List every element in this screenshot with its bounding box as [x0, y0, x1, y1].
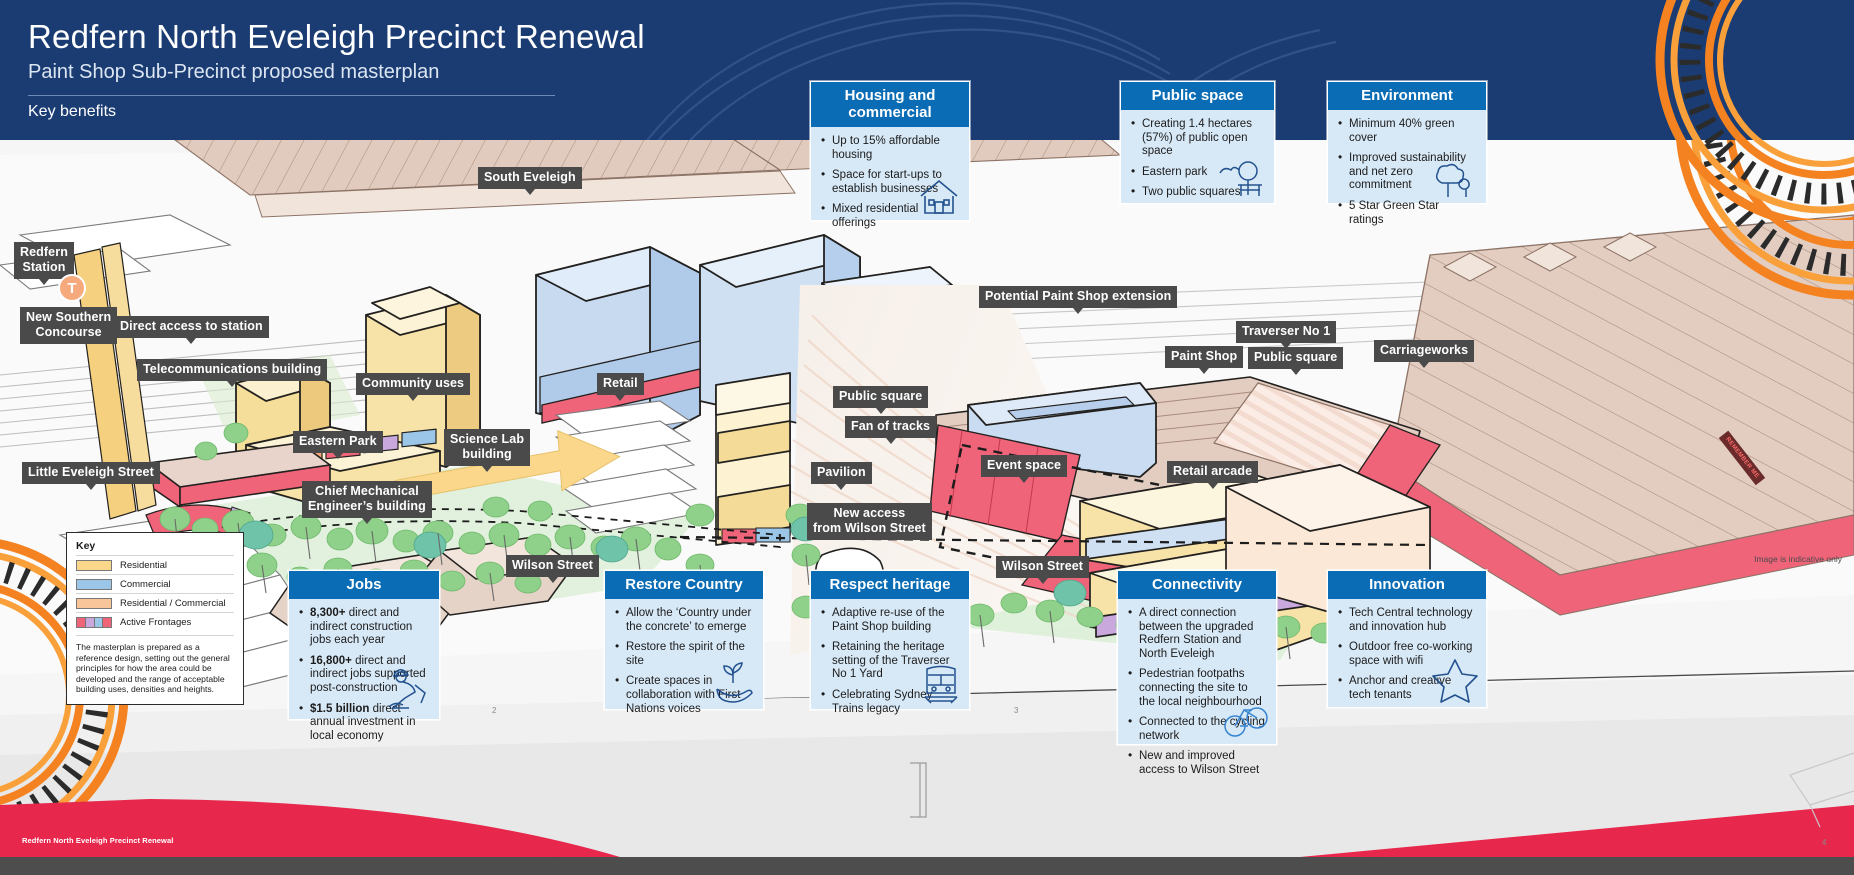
- map-label-public-square-east: Public square: [1248, 347, 1343, 369]
- map-label-public-square-centre: Public square: [833, 386, 928, 408]
- key-note: The masterplan is prepared as a referenc…: [76, 635, 234, 695]
- card-innovation: Innovation Tech Central technology and i…: [1327, 570, 1487, 708]
- map-label-retail: Retail: [597, 373, 644, 395]
- card-title: Restore Country: [605, 571, 763, 599]
- house-icon: [915, 176, 963, 216]
- map-label-telecommunications-building: Telecommunications building: [137, 359, 327, 381]
- card-environment: Environment Minimum 40% green cover Impr…: [1327, 81, 1487, 204]
- bullet: A direct connection between the upgraded…: [1128, 607, 1266, 661]
- bullet: 8,300+ direct and indirect construction …: [299, 607, 429, 648]
- bullet-emphasis: 8,300+: [310, 607, 346, 619]
- card-title: Environment: [1328, 82, 1486, 110]
- map-label-carriageworks: Carriageworks: [1374, 340, 1474, 362]
- map-label-chief-mechanical-engineers-building: Chief MechanicalEngineer’s building: [302, 481, 432, 518]
- card-body: Tech Central technology and innovation h…: [1328, 599, 1486, 707]
- map-label-redfern-station: RedfernStation: [14, 242, 74, 279]
- card-body: Allow the ‘Country under the concrete’ t…: [605, 599, 763, 709]
- card-title: Connectivity: [1118, 571, 1276, 599]
- key-row-commercial: Commercial: [76, 574, 234, 593]
- key-title: Key: [76, 540, 234, 552]
- card-body: 8,300+ direct and indirect construction …: [289, 599, 439, 719]
- bullet: Minimum 40% green cover: [1338, 118, 1476, 145]
- bullet-emphasis: 16,800+: [310, 655, 352, 667]
- train-icon: [919, 659, 963, 705]
- header-divider: [28, 95, 555, 96]
- map-label-new-access-from-wilson-street: New accessfrom Wilson Street: [807, 503, 932, 540]
- map-label-wilson-street-left: Wilson Street: [506, 555, 599, 577]
- map-label-eastern-park: Eastern Park: [293, 431, 383, 453]
- infographic-page: Redfern North Eveleigh Precinct Renewal …: [0, 0, 1854, 875]
- bullet-emphasis: $1.5 billion: [310, 703, 369, 715]
- card-body: Creating 1.4 hectares (57%) of public op…: [1121, 110, 1274, 203]
- map-label-science-lab-building: Science Labbuilding: [444, 429, 530, 466]
- card-respect-heritage: Respect heritage Adaptive re-use of the …: [810, 570, 970, 710]
- card-body: A direct connection between the upgraded…: [1118, 599, 1276, 744]
- map-label-event-space: Event space: [981, 455, 1067, 477]
- page-number-4: 4: [1822, 838, 1826, 847]
- station-roundel-icon: T: [58, 274, 86, 302]
- card-body: Up to 15% affordable housing Space for s…: [811, 127, 969, 220]
- bullet: Creating 1.4 hectares (57%) of public op…: [1131, 118, 1264, 159]
- bullet: Allow the ‘Country under the concrete’ t…: [615, 607, 753, 634]
- card-public-space: Public space Creating 1.4 hectares (57%)…: [1120, 81, 1275, 204]
- page-title: Redfern North Eveleigh Precinct Renewal: [28, 18, 1854, 56]
- page-number-2: 2: [492, 706, 496, 715]
- map-label-community-uses: Community uses: [356, 373, 470, 395]
- key-row-residential-commercial: Residential / Commercial: [76, 593, 234, 612]
- bullet: Tech Central technology and innovation h…: [1338, 607, 1476, 634]
- map-label-fan-of-tracks: Fan of tracks: [845, 416, 936, 438]
- card-jobs: Jobs 8,300+ direct and indirect construc…: [288, 570, 440, 720]
- bullet: New and improved access to Wilson Street: [1128, 750, 1266, 777]
- card-body: Minimum 40% green cover Improved sustain…: [1328, 110, 1486, 203]
- card-title: Respect heritage: [811, 571, 969, 599]
- bicycle-icon: [1222, 696, 1270, 740]
- card-title: Jobs: [289, 571, 439, 599]
- key-swatch-active-frontages: [76, 617, 112, 628]
- key-label: Active Frontages: [120, 617, 191, 628]
- map-label-traverser-no-1: Traverser No 1: [1236, 321, 1336, 343]
- page-number-3: 3: [1014, 706, 1018, 715]
- star-icon: [1430, 655, 1480, 703]
- bullet: Up to 15% affordable housing: [821, 135, 959, 162]
- key-label: Commercial: [120, 579, 171, 590]
- key-swatch-residential: [76, 560, 112, 571]
- construction-worker-icon: [381, 663, 433, 715]
- map-label-retail-arcade: Retail arcade: [1167, 461, 1258, 483]
- map-label-south-eveleigh: South Eveleigh: [478, 167, 582, 189]
- seedling-in-hand-icon: [709, 657, 757, 705]
- bullet: 5 Star Green Star ratings: [1338, 200, 1476, 227]
- map-label-pavilion: Pavilion: [811, 462, 872, 484]
- card-restore-country: Restore Country Allow the ‘Country under…: [604, 570, 764, 710]
- card-housing-and-commercial: Housing and commercial Up to 15% afforda…: [810, 81, 970, 221]
- indicative-note: Image is indicative only: [1754, 554, 1842, 564]
- map-label-wilson-street-right: Wilson Street: [996, 556, 1089, 578]
- tree-icon: [1430, 161, 1480, 199]
- map-label-direct-access-to-station: Direct access to station: [114, 316, 269, 338]
- map-label-little-eveleigh-street: Little Eveleigh Street: [22, 462, 160, 484]
- bullet: Adaptive re-use of the Paint Shop buildi…: [821, 607, 959, 634]
- card-connectivity: Connectivity A direct connection between…: [1117, 570, 1277, 745]
- key-label: Residential: [120, 560, 167, 571]
- key-row-active-frontages: Active Frontages: [76, 612, 234, 631]
- key-swatch-commercial: [76, 579, 112, 590]
- card-body: Adaptive re-use of the Paint Shop buildi…: [811, 599, 969, 709]
- bottom-strip: [0, 857, 1854, 875]
- footer-brand: Redfern North Eveleigh Precinct Renewal: [22, 836, 173, 845]
- key-swatch-residential-commercial: [76, 598, 112, 609]
- map-label-new-southern-concourse: New SouthernConcourse: [20, 307, 117, 344]
- park-bench-icon: [1216, 161, 1268, 199]
- map-label-paint-shop: Paint Shop: [1165, 346, 1243, 368]
- card-title: Housing and commercial: [811, 82, 969, 127]
- key-label: Residential / Commercial: [120, 598, 226, 609]
- card-title: Innovation: [1328, 571, 1486, 599]
- card-title: Public space: [1121, 82, 1274, 110]
- key-row-residential: Residential: [76, 555, 234, 574]
- map-key-legend: Key Residential Commercial Residential /…: [66, 532, 244, 705]
- map-label-potential-paint-shop-extension: Potential Paint Shop extension: [979, 286, 1177, 308]
